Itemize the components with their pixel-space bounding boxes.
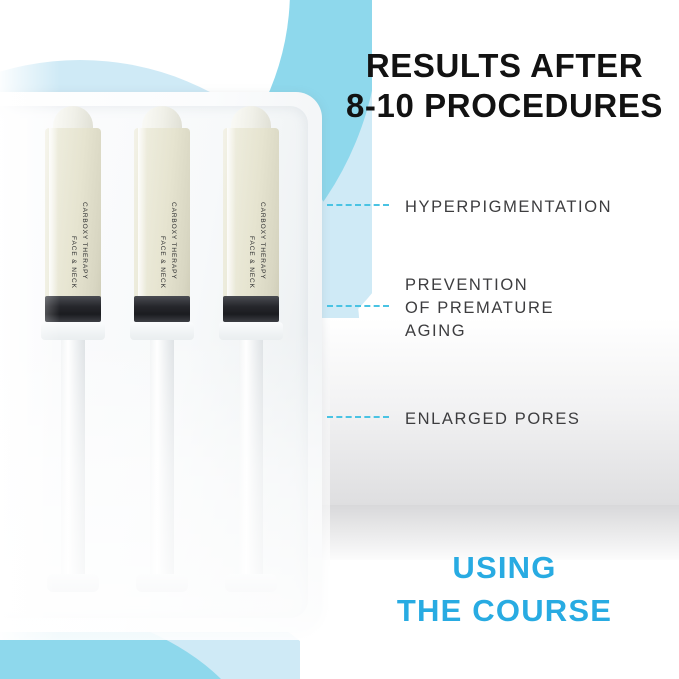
syringe: CARBOXY THERAPY FACE & NECK [130, 106, 194, 606]
syringe-plunger-rod [239, 320, 263, 580]
syringe-flange [225, 574, 277, 592]
syringe-label-area: FACE & NECK [248, 236, 255, 289]
dashed-connector-icon [327, 305, 389, 307]
benefit-line: OF PREMATURE [405, 297, 554, 320]
syringe-collar [219, 322, 283, 340]
footer-caption: USING THE COURSE [330, 546, 679, 632]
benefit-item-hyperpigmentation: HYPERPIGMENTATION [327, 196, 612, 219]
benefit-label: HYPERPIGMENTATION [405, 196, 612, 219]
benefit-label: ENLARGED PORES [405, 408, 581, 431]
syringe-collar [130, 322, 194, 340]
syringe-label-therapy: CARBOXY THERAPY [81, 202, 88, 280]
syringe-flange [136, 574, 188, 592]
syringe-label-therapy: CARBOXY THERAPY [259, 202, 266, 280]
syringe: CARBOXY THERAPY FACE & NECK [219, 106, 283, 606]
benefit-label: PREVENTION OF PREMATURE AGING [405, 274, 554, 343]
syringe-plunger-stopper [45, 296, 101, 322]
benefit-line: HYPERPIGMENTATION [405, 196, 612, 219]
promo-graphic: CARBOXY THERAPY FACE & NECK CARBOXY THER… [0, 0, 679, 679]
syringe-collar [41, 322, 105, 340]
syringe-flange [47, 574, 99, 592]
syringe-plunger-stopper [134, 296, 190, 322]
headline-line-1: RESULTS AFTER [366, 47, 643, 84]
dashed-connector-icon [327, 204, 389, 206]
syringe-label-area: FACE & NECK [70, 236, 77, 289]
footer-line-1: USING [452, 550, 556, 585]
syringe-label-therapy: CARBOXY THERAPY [170, 202, 177, 280]
benefit-line: PREVENTION [405, 274, 554, 297]
benefit-line: ENLARGED PORES [405, 408, 581, 431]
dashed-connector-icon [327, 416, 389, 418]
syringe: CARBOXY THERAPY FACE & NECK [41, 106, 105, 606]
syringe-plunger-stopper [223, 296, 279, 322]
page-title: RESULTS AFTER 8-10 PROCEDURES [330, 46, 679, 126]
benefit-item-enlarged-pores: ENLARGED PORES [327, 408, 581, 431]
syringe-plunger-rod [61, 320, 85, 580]
benefit-item-prevention-of-premature-aging: PREVENTION OF PREMATURE AGING [327, 274, 554, 343]
benefit-line: AGING [405, 320, 554, 343]
syringe-label-area: FACE & NECK [159, 236, 166, 289]
product-photo: CARBOXY THERAPY FACE & NECK CARBOXY THER… [0, 0, 330, 640]
footer-line-2: THE COURSE [330, 589, 679, 632]
syringe-plunger-rod [150, 320, 174, 580]
headline-line-2: 8-10 PROCEDURES [330, 86, 679, 126]
